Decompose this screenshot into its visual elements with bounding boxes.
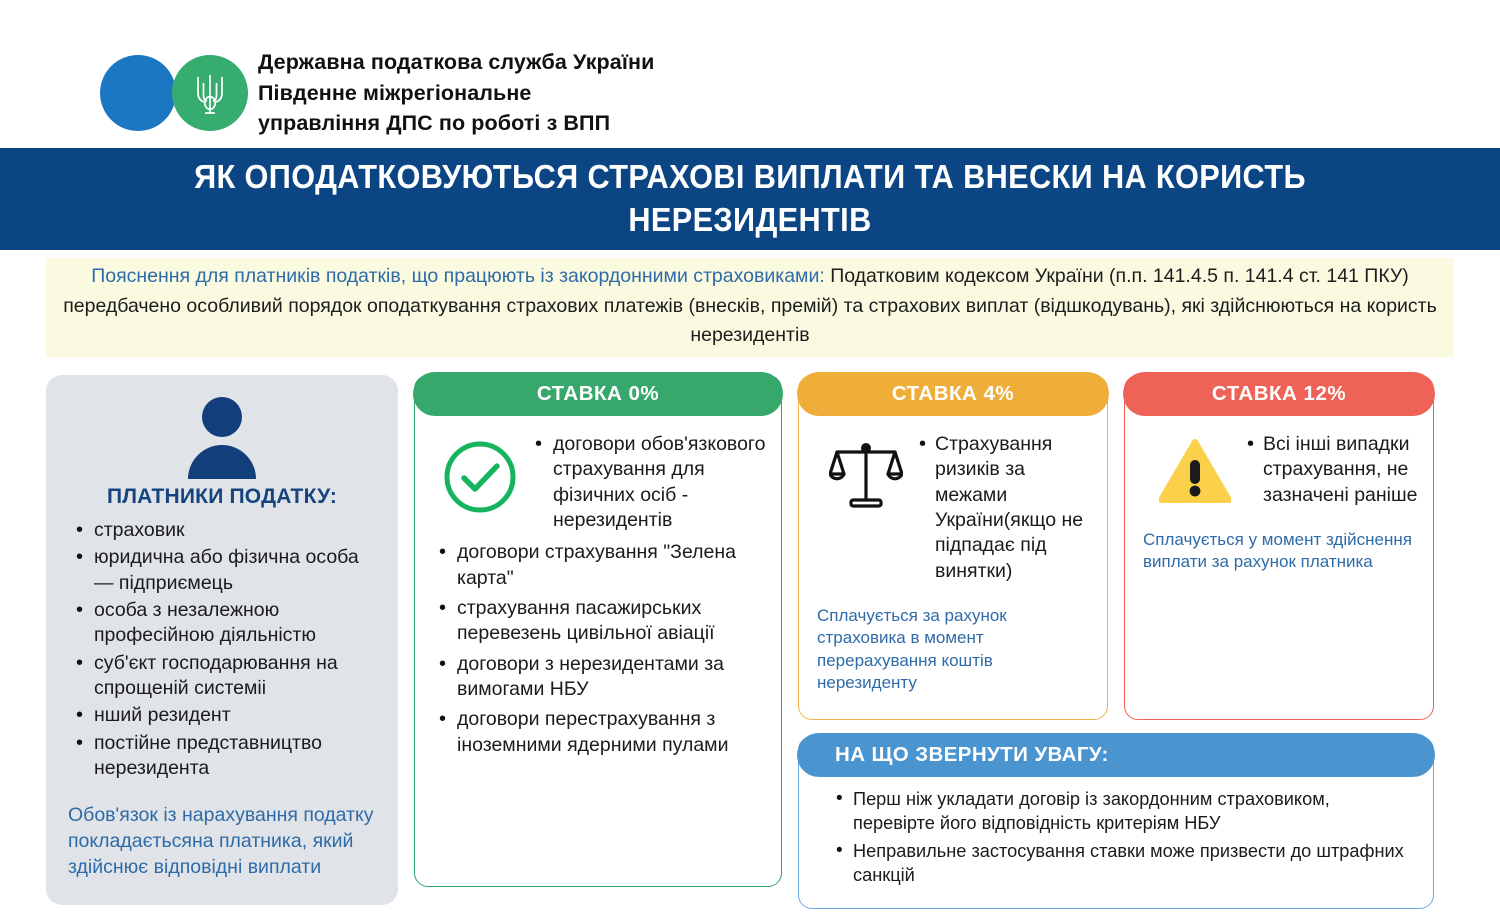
list-item: юридична або фізична особа — підприємець	[68, 545, 376, 596]
rate-card-4: СТАВКА 4%	[798, 375, 1108, 720]
list-item: особа з незалежною професійною діяльніст…	[68, 598, 376, 649]
page-title: ЯК ОПОДАТКОВУЮТЬСЯ СТРАХОВІ ВИПЛАТИ ТА В…	[136, 156, 1364, 242]
rate-card-12-body: Всі інші випадки страхування, не зазначе…	[1139, 420, 1419, 513]
list-item: Страхування ризиків за межами України(як…	[913, 432, 1093, 584]
list-item: постійне представництво нерезидента	[68, 731, 376, 782]
taxpayers-note: Обов'язок із нарахування податку поклада…	[68, 803, 376, 880]
logo-blue-circle-icon	[100, 55, 176, 131]
list-item: договори обов'язкового страхування для ф…	[529, 432, 767, 533]
intro-lead: Пояснення для платників податків, що пра…	[91, 265, 825, 287]
taxpayers-list: страховик юридична або фізична особа — п…	[68, 518, 376, 781]
rate-card-4-note: Сплачується за рахунок страховика в моме…	[813, 605, 1093, 695]
scales-balance-icon	[813, 432, 903, 519]
list-item: договори страхування "Зелена карта"	[431, 540, 763, 591]
org-line-1: Державна податкова служба України	[258, 47, 654, 78]
list-item: нший резидент	[68, 703, 376, 728]
org-line-3: управління ДПС по роботі з ВПП	[258, 108, 654, 139]
list-item: суб'єкт господарювання на спрощеній сист…	[68, 651, 376, 702]
org-line-2: Південне міжрегіональне	[258, 78, 654, 109]
intro-highlight: Пояснення для платників податків, що пра…	[46, 258, 1454, 357]
attention-panel: НА ЩО ЗВЕРНУТИ УВАГУ: Перш ніж укладати …	[798, 736, 1434, 910]
list-item: Перш ніж укладати договір із закордонним…	[831, 787, 1415, 836]
title-banner: ЯК ОПОДАТКОВУЮТЬСЯ СТРАХОВІ ВИПЛАТИ ТА В…	[0, 148, 1500, 250]
rate-card-0-body: договори обов'язкового страхування для ф…	[429, 420, 767, 538]
rate-card-0: СТАВКА 0% договори обов'язкового страхув…	[414, 375, 782, 887]
rate-card-0-primary-list: договори обов'язкового страхування для ф…	[529, 432, 767, 538]
rate-card-12-list: Всі інші випадки страхування, не зазначе…	[1241, 432, 1419, 513]
trident-emblem-icon	[192, 69, 228, 117]
list-item: договори з нерезидентами за вимогами НБУ	[431, 652, 763, 703]
rate-card-12-header: СТАВКА 12%	[1123, 372, 1435, 416]
attention-list: Перш ніж укладати договір із закордонним…	[817, 783, 1415, 888]
rates-section: СТАВКА 0% договори обов'язкового страхув…	[414, 375, 1456, 910]
rate-cards-row: СТАВКА 4%	[798, 375, 1434, 720]
list-item: Неправильне застосування ставки може при…	[831, 839, 1415, 888]
organization-name: Державна податкова служба України Півден…	[258, 47, 654, 139]
page-header: Державна податкова служба України Півден…	[0, 0, 1500, 148]
rate-card-4-body: Страхування ризиків за межами України(як…	[813, 420, 1093, 589]
taxpayers-title: ПЛАТНИКИ ПОДАТКУ:	[68, 485, 376, 509]
attention-title: НА ЩО ЗВЕРНУТИ УВАГУ:	[797, 733, 1435, 777]
logo	[100, 55, 248, 131]
rate-card-0-header: СТАВКА 0%	[413, 372, 783, 416]
rate-card-0-list: договори страхування "Зелена карта" стра…	[429, 538, 767, 758]
rate-card-12-note: Сплачується у момент здійснення виплати …	[1139, 529, 1419, 574]
rate-card-4-list: Страхування ризиків за межами України(як…	[913, 432, 1093, 589]
intro-section: Пояснення для платників податків, що пра…	[0, 250, 1500, 357]
right-column: СТАВКА 4%	[798, 375, 1434, 910]
warning-triangle-icon	[1139, 432, 1231, 509]
list-item: Всі інші випадки страхування, не зазначе…	[1241, 432, 1419, 508]
rate-card-12: СТАВКА 12% Всі інші випадки страхування,…	[1124, 375, 1434, 720]
rate-card-4-header: СТАВКА 4%	[797, 372, 1109, 416]
main-content: ПЛАТНИКИ ПОДАТКУ: страховик юридична або…	[0, 357, 1500, 910]
taxpayers-card: ПЛАТНИКИ ПОДАТКУ: страховик юридична або…	[46, 375, 398, 905]
list-item: договори перестрахування з іноземними яд…	[431, 707, 763, 758]
list-item: страховик	[68, 518, 376, 543]
list-item: страхування пасажирських перевезень циві…	[431, 596, 763, 647]
person-icon	[182, 395, 262, 479]
check-circle-icon	[429, 432, 519, 521]
